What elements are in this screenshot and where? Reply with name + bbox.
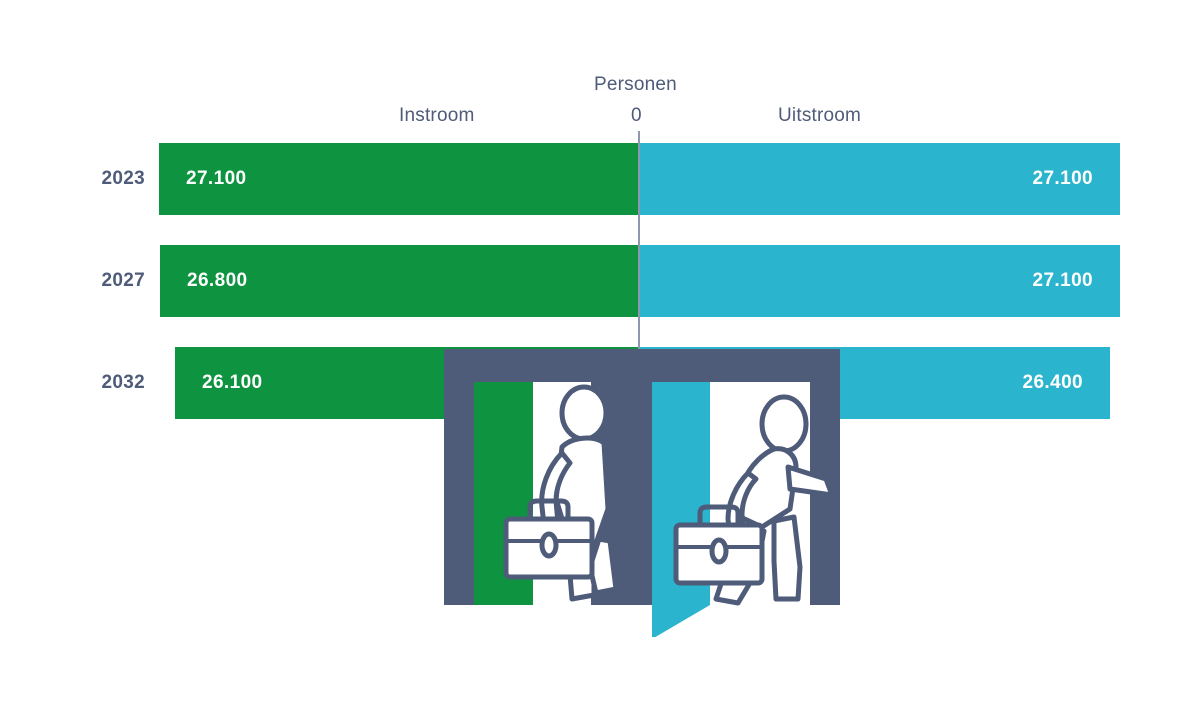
- bar-value-label: 26.100: [202, 372, 263, 394]
- bar-uitstroom-2023: 27.100: [640, 143, 1120, 215]
- row-year-label: 2032: [102, 372, 145, 394]
- bar-instroom-2032: 26.100: [175, 347, 638, 419]
- table-row: 2027 26.800 27.100: [0, 245, 1200, 317]
- bar-instroom-2023: 27.100: [159, 143, 638, 215]
- bar-value-label: 27.100: [1032, 270, 1093, 292]
- table-row: 2032 26.100 26.400: [0, 347, 1200, 419]
- bar-uitstroom-2032: 26.400: [640, 347, 1110, 419]
- bar-value-label: 26.800: [187, 270, 248, 292]
- bar-uitstroom-2027: 27.100: [640, 245, 1120, 317]
- row-year-label: 2023: [102, 168, 145, 190]
- chart-canvas: Personen 0 Instroom Uitstroom 2023 27.10…: [0, 0, 1200, 720]
- bar-value-label: 27.100: [1032, 168, 1093, 190]
- table-row: 2023 27.100 27.100: [0, 143, 1200, 215]
- bar-instroom-2027: 26.800: [160, 245, 638, 317]
- bar-value-label: 27.100: [186, 168, 247, 190]
- row-year-label: 2027: [102, 270, 145, 292]
- bar-value-label: 26.400: [1022, 372, 1083, 394]
- plot-area: 2023 27.100 27.100 2027 26.800 27.100 20…: [0, 0, 1200, 720]
